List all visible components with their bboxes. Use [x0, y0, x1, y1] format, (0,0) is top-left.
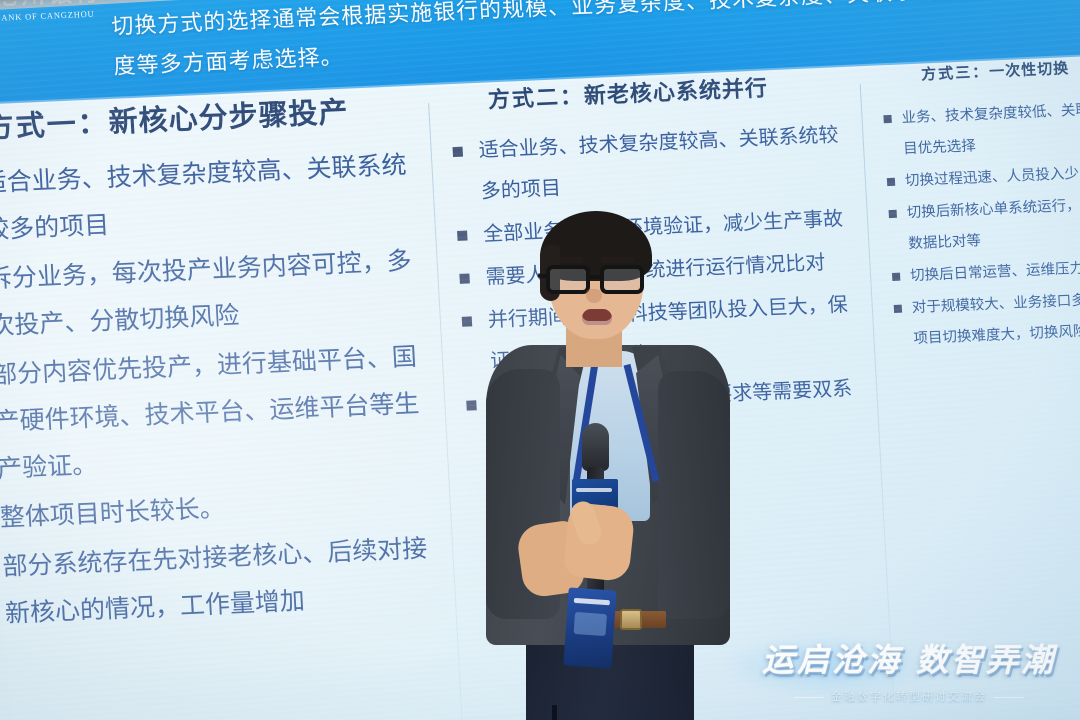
bank-name-en: BANK OF CANGZHOU — [0, 9, 103, 22]
list-item: 适合业务、技术复杂度较高、关联系统较多的项目 — [448, 115, 852, 214]
column-fangshi-san: 方式三：一次性切换 业务、技术复杂度较低、关联系统较少的项目优先选择 切换过程迅… — [877, 52, 1080, 357]
microphone-head-icon — [582, 423, 609, 471]
speaker-belt-buckle — [620, 609, 642, 630]
speaker-eyebrow-right — [600, 257, 634, 263]
column-3-heading-num: 方式三： — [921, 64, 990, 84]
glasses-lens-left — [546, 265, 590, 294]
column-3-heading-sub: 一次性切换 — [989, 60, 1070, 80]
list-item: 切换后新核心单系统运行，无需二次投入、数据比对等 — [884, 186, 1080, 261]
speaker-arm-right — [658, 371, 730, 619]
column-2-heading-sub: 新老核心系统并行 — [583, 75, 768, 108]
glasses-lens-right — [600, 265, 644, 294]
column-fangshi-yi: 方式一：新核心分步骤投产 适合业务、技术复杂度较高、关联系统较多的项目 拆分业务… — [0, 86, 442, 642]
list-item: 部分内容优先投产，进行基础平台、国产硬件环境、技术平台、运维平台等生产验证。 — [0, 333, 434, 494]
speaker-figure — [470, 205, 750, 720]
column-1-bullets: 适合业务、技术复杂度较高、关联系统较多的项目 拆分业务，每次投产业务内容可控，多… — [0, 142, 442, 640]
list-item: 对于规模较大、业务接口多、关联系统多的项目切换难度大，切换风险高。 — [889, 281, 1080, 356]
column-1-heading-num: 方式一： — [0, 107, 110, 144]
speaker-eyebrow-left — [550, 257, 584, 263]
column-1-heading-sub: 新核心分步骤投产 — [108, 97, 350, 139]
glasses-bridge — [588, 275, 602, 279]
speaker-mouth — [582, 309, 612, 325]
list-item: 业务、技术复杂度较低、关联系统较少的项目优先选择 — [879, 91, 1080, 166]
photo-stage: 沧州银行 BANK OF CANGZHOU 主流的切换方式为三种：新老核心系统并… — [0, 0, 1080, 720]
column-3-bullets: 业务、技术复杂度较低、关联系统较少的项目优先选择 切换过程迅速、人员投入少 切换… — [879, 91, 1080, 356]
speaker-name-badge — [563, 587, 616, 668]
list-item: 部分系统存在先对接老核心、后续对接新核心的情况，工作量增加 — [0, 525, 442, 639]
list-item: 适合业务、技术复杂度较高、关联系统较多的项目 — [0, 142, 421, 256]
column-2-heading-num: 方式二： — [487, 83, 584, 112]
speaker-trouser-seam — [552, 705, 557, 720]
list-item: 拆分业务，每次投产业务内容可控，多次投产、分散切换风险 — [0, 238, 426, 352]
